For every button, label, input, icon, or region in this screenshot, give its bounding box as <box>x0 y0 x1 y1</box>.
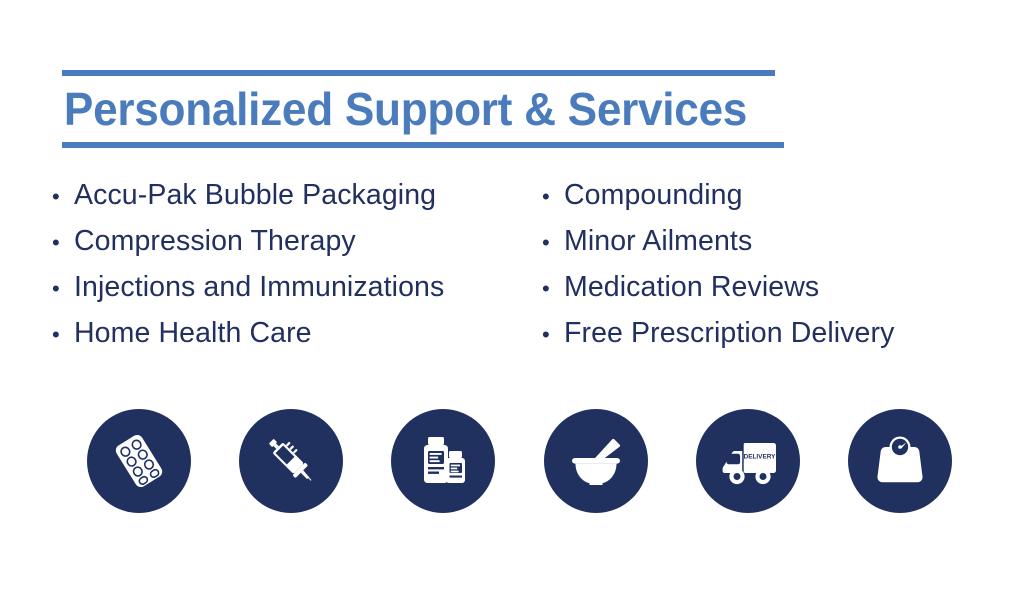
title-block: Personalized Support & Services <box>62 70 784 148</box>
services-left-column: • Accu-Pak Bubble Packaging • Compressio… <box>52 178 542 362</box>
services-lists: • Accu-Pak Bubble Packaging • Compressio… <box>52 178 982 362</box>
bullet-icon: • <box>52 182 74 212</box>
pill-bottles-icon <box>411 429 475 493</box>
list-item: • Home Health Care <box>52 316 542 362</box>
slide-canvas: Personalized Support & Services • Accu-P… <box>0 0 1025 590</box>
truck-delivery-text: DELIVERY <box>743 453 775 460</box>
bullet-icon: • <box>542 320 564 350</box>
syringe-icon <box>259 429 323 493</box>
service-label: Compression Therapy <box>74 224 356 258</box>
service-label: Accu-Pak Bubble Packaging <box>74 178 436 212</box>
service-label: Free Prescription Delivery <box>564 316 894 350</box>
list-item: • Accu-Pak Bubble Packaging <box>52 178 542 224</box>
weight-scale-icon <box>868 429 932 493</box>
bullet-icon: • <box>52 228 74 258</box>
list-item: • Compounding <box>542 178 982 224</box>
bullet-icon: • <box>52 274 74 304</box>
page-title: Personalized Support & Services <box>62 76 755 142</box>
icon-badge-weight-scale <box>848 409 952 513</box>
icon-badge-mortar-pestle <box>544 409 648 513</box>
service-label: Compounding <box>564 178 743 212</box>
title-rule-bottom <box>62 142 784 148</box>
bullet-icon: • <box>542 274 564 304</box>
mortar-pestle-icon <box>564 429 628 493</box>
icon-badge-delivery-truck: DELIVERY <box>696 409 800 513</box>
icon-badge-syringe <box>239 409 343 513</box>
bullet-icon: • <box>52 320 74 350</box>
icon-badge-pill-bottles <box>391 409 495 513</box>
bullet-icon: • <box>542 182 564 212</box>
service-label: Medication Reviews <box>564 270 819 304</box>
list-item: • Injections and Immunizations <box>52 270 542 316</box>
service-label: Injections and Immunizations <box>74 270 444 304</box>
list-item: • Compression Therapy <box>52 224 542 270</box>
delivery-truck-icon: DELIVERY <box>714 427 782 495</box>
blister-pack-icon <box>107 429 171 493</box>
list-item: • Free Prescription Delivery <box>542 316 982 362</box>
list-item: • Medication Reviews <box>542 270 982 316</box>
service-label: Home Health Care <box>74 316 312 350</box>
list-item: • Minor Ailments <box>542 224 982 270</box>
icon-badge-blister-pack <box>87 409 191 513</box>
service-icon-row: DELIVERY <box>87 408 952 513</box>
services-right-column: • Compounding • Minor Ailments • Medicat… <box>542 178 982 362</box>
bullet-icon: • <box>542 228 564 258</box>
service-label: Minor Ailments <box>564 224 752 258</box>
